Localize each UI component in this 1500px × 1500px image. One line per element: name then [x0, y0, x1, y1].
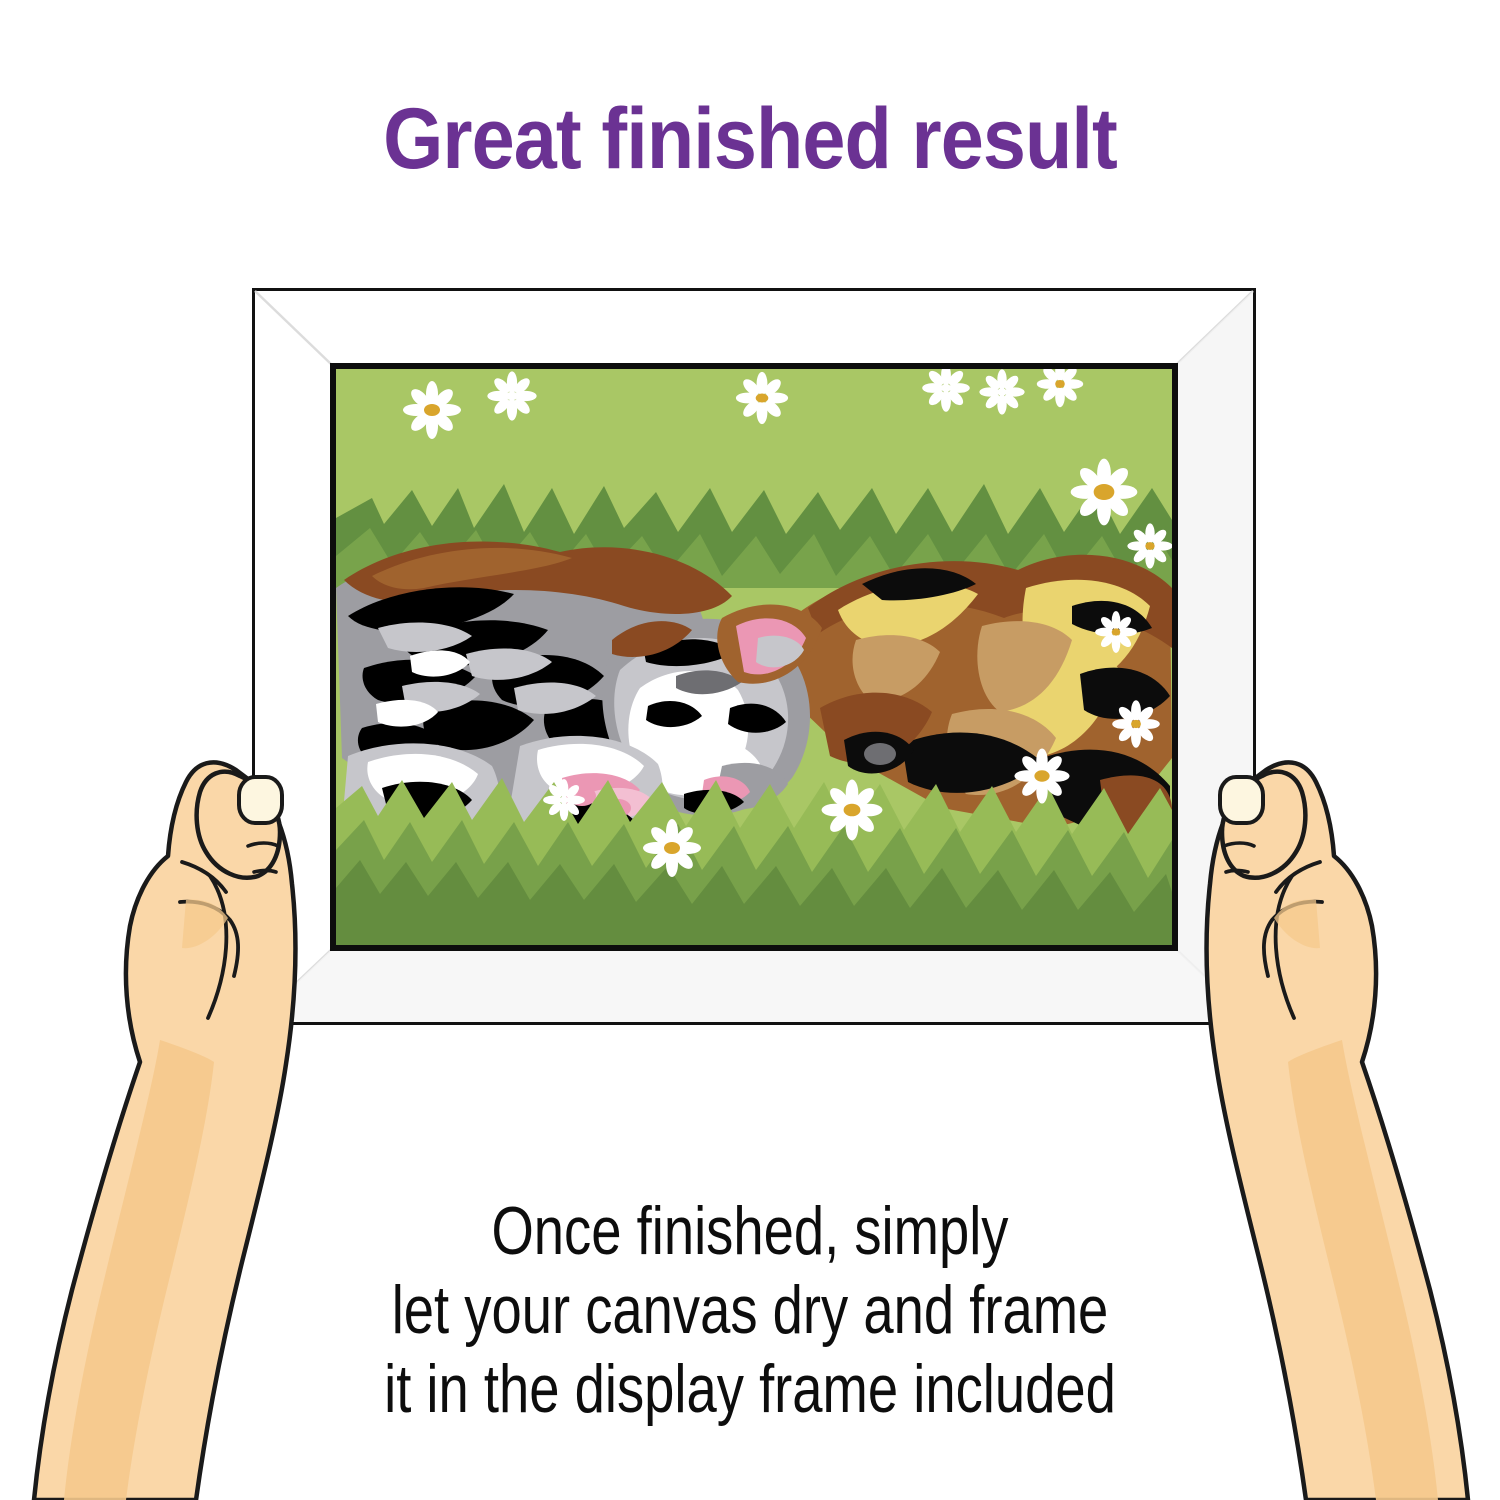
- page-root: Great finished result: [0, 0, 1500, 1500]
- display-frame: [252, 288, 1256, 1025]
- caption-line-2: let your canvas dry and frame: [150, 1271, 1350, 1350]
- caption-block: Once finished, simply let your canvas dr…: [150, 1192, 1350, 1429]
- page-title: Great finished result: [75, 96, 1425, 182]
- caption-line-1: Once finished, simply: [150, 1192, 1350, 1271]
- canvas-painting: [336, 361, 1173, 945]
- framed-artwork: [252, 288, 1256, 1025]
- caption-line-3: it in the display frame included: [150, 1350, 1350, 1429]
